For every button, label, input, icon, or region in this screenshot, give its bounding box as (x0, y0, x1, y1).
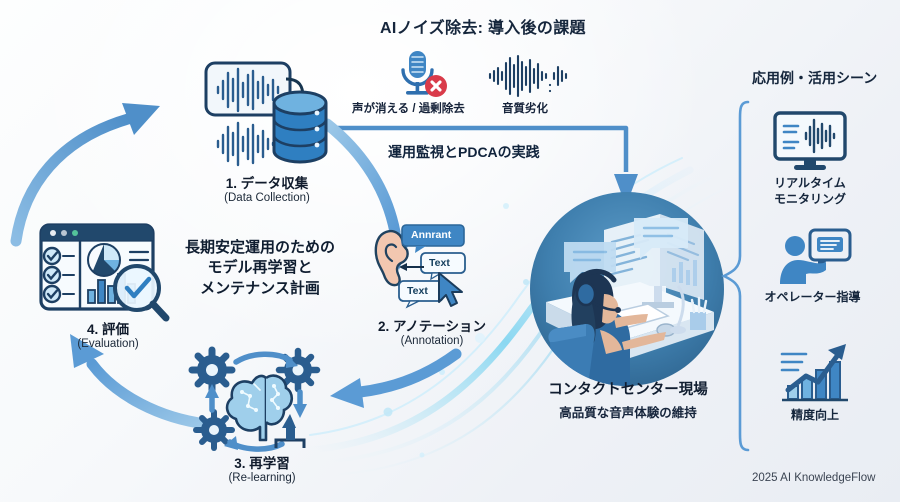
database-waveform-icon (200, 55, 330, 167)
center-message-line-2: メンテナンス計画 (160, 279, 360, 299)
right-panel-brace (722, 100, 750, 452)
step-3-label-jp: 3. 再学習 (182, 452, 342, 472)
contact-center-caption: コンタクトセンター現場 高品質な音声体験の維持 (522, 378, 734, 421)
right-item-0-label-line-0: リアルタイム (750, 176, 870, 192)
step-1-label-en: (Data Collection) (192, 192, 342, 204)
top-section-title: AIノイズ除去: 導入後の課題 (380, 14, 586, 38)
annotation-bubble-filled[interactable]: Annrant (402, 225, 470, 253)
annotation-arrow-left-icon (399, 261, 425, 273)
step-3-label-en: (Re-learning) (182, 472, 342, 484)
brain-gears-icon (190, 348, 330, 458)
center-message-line-0: 長期安定運用のための (160, 238, 360, 258)
center-message-line-1: モデル再学習と (160, 258, 360, 278)
step-3-caption: 3. 再学習 (Re-learning) (182, 452, 342, 484)
right-item-2-label-line-0: 精度向上 (755, 408, 875, 424)
annotation-bubble-text-0: Annrant (411, 229, 451, 241)
growth-chart-icon (778, 342, 852, 404)
right-item-2-label: 精度向上 (755, 408, 875, 424)
operator-at-desk-illustration (528, 190, 726, 388)
step-4-caption: 4. 評価 (Evaluation) (28, 318, 188, 350)
right-item-0-label-line-1: モニタリング (750, 192, 870, 208)
contact-center-subtitle: 高品質な音声体験の維持 (522, 402, 734, 421)
operator-coaching-icon (778, 228, 852, 286)
step-1-caption: 1. データ収集 (Data Collection) (192, 172, 342, 204)
right-item-0-label: リアルタイム モニタリング (750, 176, 870, 207)
cursor-pointer-icon (437, 272, 467, 310)
contact-center-title: コンタクトセンター現場 (522, 378, 734, 399)
step-2-label-en: (Annotation) (352, 335, 512, 347)
right-item-1-label: オペレーター指導 (745, 290, 880, 306)
monitor-waveform-icon (772, 110, 848, 172)
top-item-label-1: 音質劣化 (502, 100, 548, 116)
microphone-muted-icon (392, 48, 454, 102)
top-item-label-0: 声が消える / 過剰除去 (352, 100, 465, 116)
step-4-label-jp: 4. 評価 (28, 318, 188, 338)
audio-waveform-icon (488, 55, 570, 97)
step-1-label-jp: 1. データ収集 (192, 172, 342, 192)
annotation-bubble-text-1: Text (429, 257, 450, 269)
step-2-caption: 2. アノテーション (Annotation) (352, 315, 512, 347)
cycle-arrow-annotation-to-relearning (330, 350, 460, 410)
step-2-label-jp: 2. アノテーション (352, 315, 512, 335)
right-item-1-label-line-0: オペレーター指導 (745, 290, 880, 306)
center-message: 長期安定運用のための モデル再学習と メンテナンス計画 (160, 238, 360, 299)
annotation-bubble-text-2: Text (407, 285, 428, 297)
footer-credit: 2025 AI KnowledgeFlow (752, 472, 875, 484)
dashboard-magnifier-icon (38, 222, 176, 326)
right-panel-heading: 応用例・活用シーン (752, 68, 877, 88)
step-4-label-en: (Evaluation) (28, 338, 188, 350)
infographic-canvas: AIノイズ除去: 導入後の課題 声が消える / 過剰除去 (0, 0, 900, 502)
